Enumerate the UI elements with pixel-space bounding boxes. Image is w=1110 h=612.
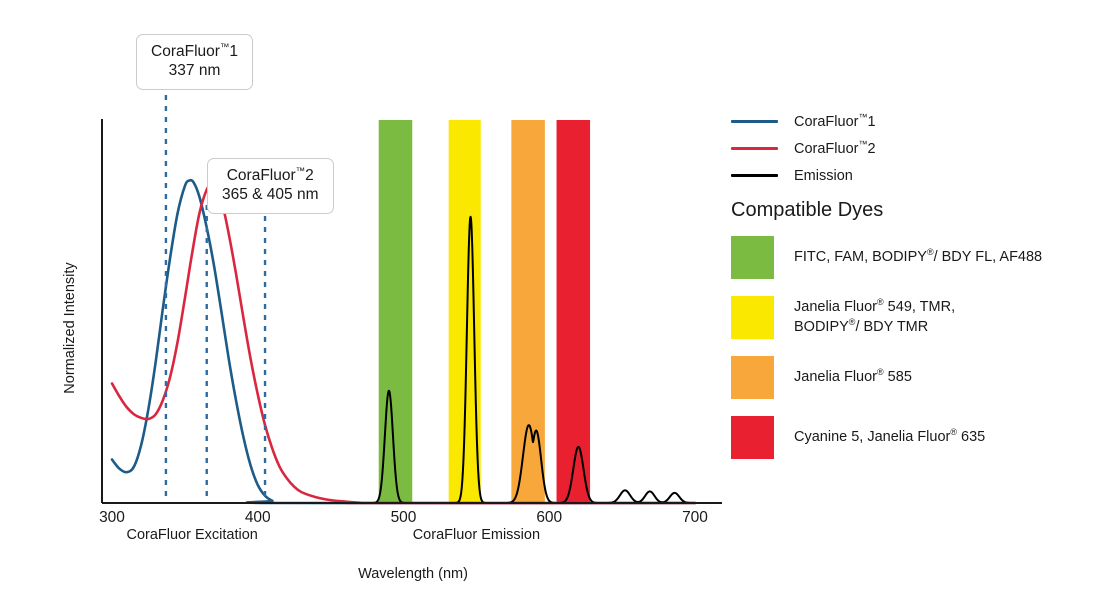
legend-item-label: CoraFluor™1 <box>794 114 876 130</box>
legend-line-swatch <box>731 147 778 150</box>
dye-item-label: Janelia Fluor® 549, TMR,BODIPY®/ BDY TMR <box>794 298 955 337</box>
region-label-emission: CoraFluor Emission <box>413 527 540 543</box>
dye-item-line2: BODIPY®/ BDY TMR <box>794 318 955 338</box>
legend-item-2: Emission <box>731 162 1091 189</box>
registered-icon: ® <box>927 247 934 257</box>
region-label-excitation: CoraFluor Excitation <box>126 527 257 543</box>
x-tick-label-700: 700 <box>682 509 708 527</box>
dye-item-line1: Cyanine 5, Janelia Fluor® 635 <box>794 428 985 448</box>
legend-line-swatch <box>731 120 778 123</box>
registered-icon: ® <box>877 297 884 307</box>
legend-item-1: CoraFluor™2 <box>731 135 1091 162</box>
dye-item-2: Janelia Fluor® 585 <box>731 356 1096 399</box>
x-tick-label-500: 500 <box>391 509 417 527</box>
registered-icon: ® <box>877 367 884 377</box>
callout-cf2-line2: 365 & 405 nm <box>222 185 319 204</box>
x-tick-label-400: 400 <box>245 509 271 527</box>
spectra-chart: CoraFluor™1 337 nm CoraFluor™2 365 & 405… <box>0 0 1110 612</box>
x-tick-label-600: 600 <box>536 509 562 527</box>
legend-item-0: CoraFluor™1 <box>731 108 1091 135</box>
compatible-dyes-heading: Compatible Dyes <box>731 199 883 222</box>
x-tick-label-300: 300 <box>99 509 125 527</box>
dye-item-3: Cyanine 5, Janelia Fluor® 635 <box>731 416 1096 459</box>
callout-cf2-line1: CoraFluor™2 <box>222 166 319 185</box>
dye-item-label: Cyanine 5, Janelia Fluor® 635 <box>794 428 985 448</box>
red-band <box>557 120 591 503</box>
dye-item-1: Janelia Fluor® 549, TMR,BODIPY®/ BDY TMR <box>731 296 1096 339</box>
dye-item-label: Janelia Fluor® 585 <box>794 368 912 388</box>
trademark-icon: ™ <box>296 166 306 177</box>
dye-color-swatch <box>731 296 774 339</box>
y-axis-title: Normalized Intensity <box>62 238 78 418</box>
legend-line-swatch <box>731 174 778 177</box>
trademark-icon: ™ <box>220 42 230 53</box>
legend-item-label: CoraFluor™2 <box>794 141 876 157</box>
compatible-dyes-list: FITC, FAM, BODIPY®/ BDY FL, AF488Janelia… <box>731 236 1096 476</box>
legend-item-label: Emission <box>794 168 853 184</box>
callout-cf1-line1: CoraFluor™1 <box>151 42 238 61</box>
series-legend: CoraFluor™1CoraFluor™2Emission <box>731 108 1091 189</box>
x-axis-title: Wavelength (nm) <box>358 566 468 582</box>
dye-item-line1: Janelia Fluor® 549, TMR, <box>794 298 955 318</box>
dye-item-line1: FITC, FAM, BODIPY®/ BDY FL, AF488 <box>794 248 1042 268</box>
callout-corafluor-1: CoraFluor™1 337 nm <box>136 34 253 90</box>
dye-item-line1: Janelia Fluor® 585 <box>794 368 912 388</box>
dye-item-label: FITC, FAM, BODIPY®/ BDY FL, AF488 <box>794 248 1042 268</box>
dye-color-swatch <box>731 236 774 279</box>
callout-corafluor-2: CoraFluor™2 365 & 405 nm <box>207 158 334 214</box>
dye-color-swatch <box>731 416 774 459</box>
dye-item-0: FITC, FAM, BODIPY®/ BDY FL, AF488 <box>731 236 1096 279</box>
callout-cf1-line2: 337 nm <box>151 61 238 80</box>
dye-color-swatch <box>731 356 774 399</box>
